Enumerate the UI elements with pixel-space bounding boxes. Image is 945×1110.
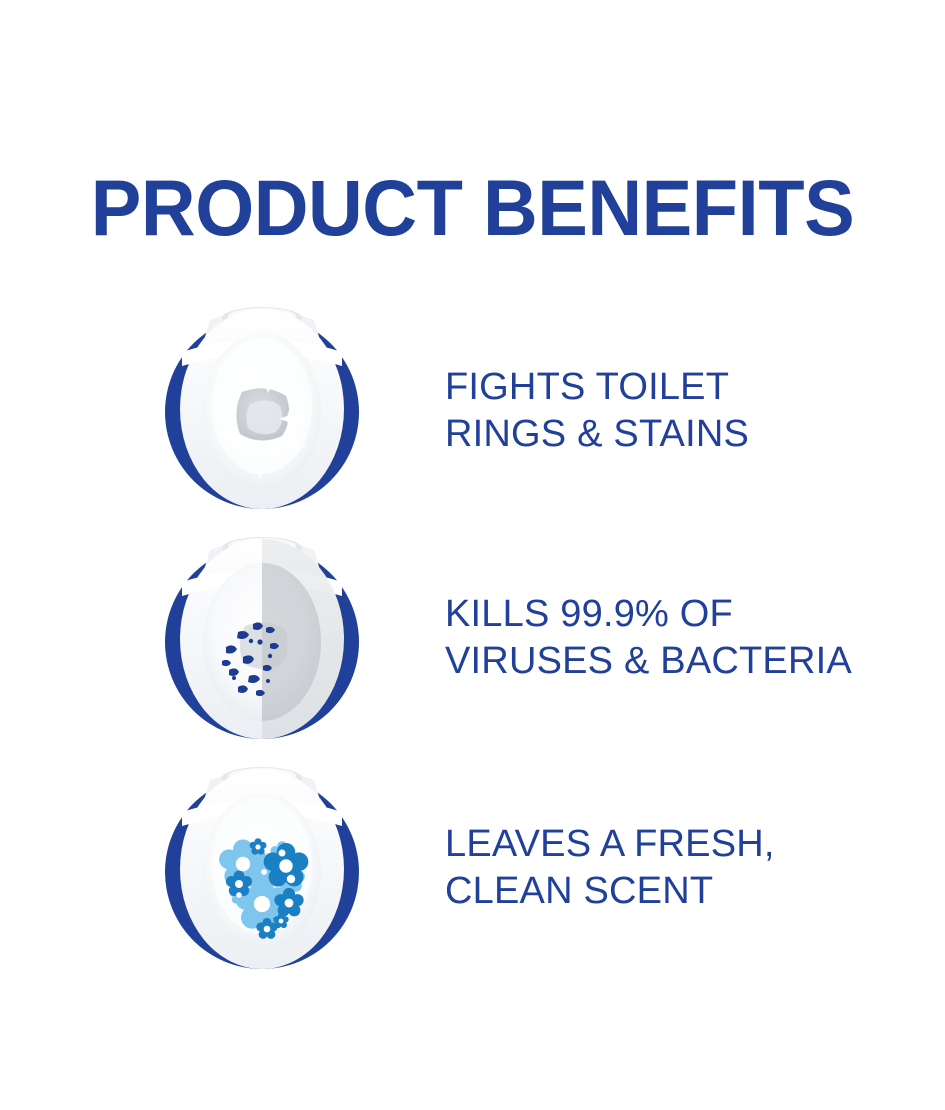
product-benefits-page: PRODUCT BENEFITS [0, 0, 945, 1110]
page-title: PRODUCT BENEFITS [19, 168, 926, 247]
benefits-list: FIGHTS TOILET RINGS & STAINS [0, 286, 945, 976]
benefit-item: KILLS 99.9% OF VIRUSES & BACTERIA [0, 516, 945, 746]
benefit-label: FIGHTS TOILET RINGS & STAINS [445, 364, 905, 458]
toilet-bowl-germs-icon [150, 516, 375, 746]
benefit-item: LEAVES A FRESH, CLEAN SCENT [0, 746, 945, 976]
benefit-item: FIGHTS TOILET RINGS & STAINS [0, 286, 945, 516]
benefit-label: LEAVES A FRESH, CLEAN SCENT [445, 821, 905, 915]
benefit-label: KILLS 99.9% OF VIRUSES & BACTERIA [445, 591, 905, 685]
toilet-bowl-sparkle-icon [150, 286, 375, 516]
toilet-bowl-flowers-icon [150, 746, 375, 976]
